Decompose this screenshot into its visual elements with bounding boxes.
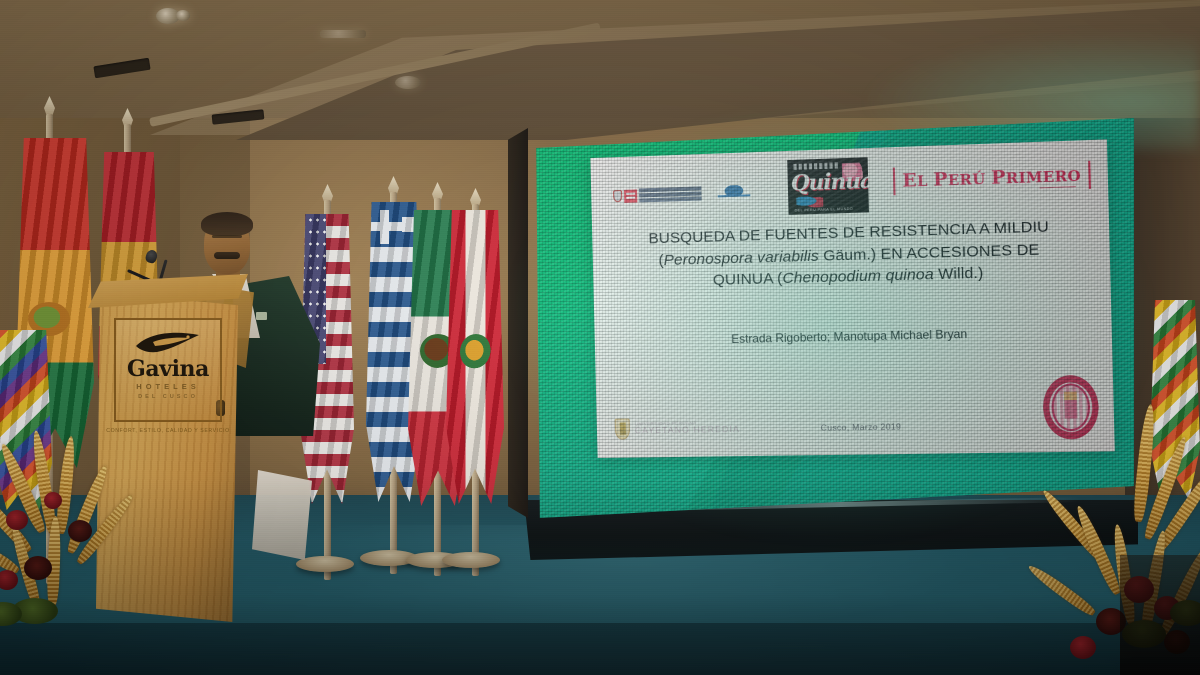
quinua-leaf-icon bbox=[796, 193, 823, 208]
speaker-mustache bbox=[214, 252, 240, 259]
minagri-wordmark-icon bbox=[639, 186, 702, 202]
slide-date-location: Cusco, Marzo 2019 bbox=[821, 421, 902, 432]
peru-primero-logo: EL PERÚ PRIMERO bbox=[893, 161, 1091, 195]
species-name-chenopodium: Chenopodium quinoa bbox=[782, 266, 934, 287]
title-line-3-head: QUINUA ( bbox=[713, 270, 783, 289]
speaker-brow bbox=[212, 235, 242, 238]
slide-title: BUSQUEDA DE FUENTES DE RESISTENCIA A MIL… bbox=[604, 215, 1098, 295]
podium-brand-sub2: DEL CUSCO bbox=[138, 394, 198, 400]
ceiling-downlight-3 bbox=[395, 76, 421, 89]
cayetano-heredia-logo: Universidad Peruana CAYETANO HEREDIA bbox=[615, 417, 741, 440]
bird-logo-icon bbox=[133, 329, 203, 355]
flag-peru-emblem bbox=[460, 334, 492, 370]
inia-logo bbox=[718, 185, 751, 202]
podium-logo-plaque: Gavina HOTELES DEL CUSCO CONFORT, ESTILO… bbox=[114, 318, 222, 422]
quinua-logo: Quinua DEL PERU PARA EL MUNDO bbox=[787, 157, 869, 215]
podium-brand-sub: HOTELES bbox=[136, 382, 199, 391]
ceiling-light-fixture bbox=[320, 30, 366, 38]
unsaac-seal bbox=[1042, 375, 1099, 440]
speaker-badge bbox=[256, 312, 267, 320]
slide-header-logos: Quinua DEL PERU PARA EL MUNDO EL PERÚ PR… bbox=[591, 146, 1109, 222]
minagri-logo bbox=[613, 186, 702, 203]
title-line-3-tail: Willd.) bbox=[934, 265, 984, 284]
upch-wordmark: Universidad Peruana CAYETANO HEREDIA bbox=[635, 420, 740, 437]
quinua-logo-script: Quinua bbox=[791, 167, 869, 195]
minagri-red-mark-icon bbox=[624, 189, 637, 202]
title-line-2-tail: Gäum.) EN ACCESIONES DE bbox=[819, 241, 1040, 265]
scene-bottom-shadow bbox=[0, 475, 1200, 675]
upch-big-text: CAYETANO HEREDIA bbox=[635, 425, 740, 437]
quinua-logo-tagline: DEL PERU PARA EL MUNDO bbox=[795, 207, 854, 213]
speaker-hair bbox=[201, 212, 253, 236]
unsaac-coat-of-arms-icon bbox=[1051, 383, 1091, 431]
peru-primero-underline-icon bbox=[1040, 186, 1076, 189]
podium-brand-name: Gavina bbox=[127, 356, 209, 382]
led-screen: Quinua DEL PERU PARA EL MUNDO EL PERÚ PR… bbox=[524, 118, 1134, 518]
slide-authors: Estrada Rigoberto; Manotupa Michael Brya… bbox=[607, 325, 1099, 349]
podium-tagline: CONFORT, ESTILO, CALIDAD Y SERVICIO bbox=[106, 428, 230, 434]
slide-footer: Universidad Peruana CAYETANO HEREDIA Cus… bbox=[596, 387, 1114, 450]
species-name-peronospora: Peronospora variabilis bbox=[664, 247, 819, 269]
minagri-shield-icon bbox=[613, 190, 622, 202]
presentation-slide: Quinua DEL PERU PARA EL MUNDO EL PERÚ PR… bbox=[590, 139, 1114, 458]
flag-greece-cross-bar-v bbox=[380, 210, 389, 244]
led-screen-surface: Quinua DEL PERU PARA EL MUNDO EL PERÚ PR… bbox=[524, 118, 1134, 518]
inia-mark-icon bbox=[718, 185, 751, 202]
presentation-photo: Quinua DEL PERU PARA EL MUNDO EL PERÚ PR… bbox=[0, 0, 1200, 675]
ceiling-downlight-2 bbox=[176, 10, 190, 21]
upch-shield-icon bbox=[615, 418, 630, 439]
